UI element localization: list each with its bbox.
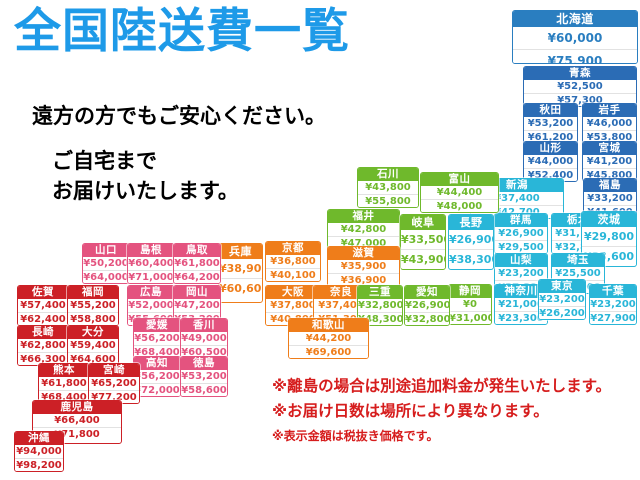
prefecture-card: 愛媛¥56,200¥68,400 [133, 318, 181, 359]
prefecture-card: 富山¥44,400¥48,000 [420, 172, 499, 213]
prefecture-price-standard: ¥50,200 [83, 257, 129, 270]
prefecture-name: 沖縄 [15, 432, 63, 445]
prefecture-price-large: ¥72,000 [134, 383, 180, 396]
prefecture-price-standard: ¥23,200 [590, 298, 636, 311]
prefecture-card: 北海道¥60,000¥75,900 [512, 10, 638, 64]
prefecture-price-standard: ¥37,800 [266, 299, 320, 312]
subtitle-secondary: ご自宅まで お届けいたします。 [52, 146, 239, 207]
prefecture-card: 宮城¥41,200¥45,800 [582, 141, 637, 182]
prefecture-price-standard: ¥23,200 [495, 267, 547, 280]
prefecture-name: 山形 [524, 142, 577, 155]
prefecture-price-large: ¥62,400 [18, 312, 68, 325]
prefecture-card: 島根¥60,400¥71,000 [127, 243, 175, 284]
prefecture-price-standard: ¥49,000 [181, 332, 227, 345]
prefecture-card: 山形¥44,000¥52,400 [523, 141, 578, 182]
prefecture-card: 徳島¥53,200¥58,600 [180, 356, 228, 397]
prefecture-price-large: ¥43,900 [401, 249, 445, 268]
prefecture-name: 千葉 [590, 285, 636, 298]
prefecture-card: 福井¥42,800¥47,000 [327, 209, 400, 250]
prefecture-price-standard: ¥53,200 [181, 370, 227, 383]
prefecture-name: 福岡 [68, 286, 118, 299]
prefecture-price-standard: ¥23,200 [539, 293, 585, 306]
prefecture-card: 秋田¥53,200¥61,200 [523, 103, 578, 144]
prefecture-name: 岩手 [583, 104, 636, 117]
prefecture-name: 長崎 [18, 326, 68, 339]
footnote-remote-island: ※離島の場合は別途追加料金が発生いたします。 [272, 374, 611, 399]
prefecture-price-standard: ¥33,500 [401, 230, 445, 249]
prefecture-card: 群馬¥26,900¥29,500 [494, 213, 548, 254]
prefecture-price-large: ¥32,800 [405, 312, 449, 325]
prefecture-price-standard: ¥47,200 [174, 299, 220, 312]
prefecture-card: 兵庫¥38,900¥60,600 [218, 243, 263, 303]
prefecture-name: 山梨 [495, 254, 547, 267]
prefecture-card: 千葉¥23,200¥27,900 [589, 284, 637, 325]
prefecture-price-standard: ¥35,900 [328, 260, 399, 273]
prefecture-name: 兵庫 [219, 244, 262, 259]
footnotes: ※離島の場合は別途追加料金が発生いたします。 ※お届け日数は場所により異なります… [272, 374, 611, 444]
prefecture-card: 京都¥36,800¥40,100 [265, 241, 321, 282]
prefecture-name: 熊本 [39, 364, 89, 377]
prefecture-card: 青森¥52,500¥57,300 [523, 66, 637, 107]
prefecture-name: 埼玉 [552, 254, 604, 267]
prefecture-name: 茨城 [582, 212, 636, 227]
prefecture-price-standard: ¥43,800 [358, 181, 418, 194]
prefecture-price-standard: ¥65,200 [89, 377, 139, 390]
prefecture-name: 徳島 [181, 357, 227, 370]
prefecture-card: 福岡¥55,200¥58,800 [67, 285, 119, 326]
prefecture-price-standard: ¥61,800 [174, 257, 220, 270]
prefecture-price-standard: ¥52,000 [128, 299, 174, 312]
prefecture-card: 大分¥59,400¥64,600 [67, 325, 119, 366]
prefecture-card: 岐阜¥33,500¥43,900 [400, 214, 446, 270]
prefecture-price-large: ¥98,200 [15, 458, 63, 471]
prefecture-name: 宮城 [583, 142, 636, 155]
prefecture-price-standard: ¥26,900 [449, 230, 493, 249]
prefecture-card: 高知¥56,200¥72,000 [133, 356, 181, 397]
prefecture-price-large: ¥26,200 [539, 306, 585, 319]
prefecture-price-standard: ¥52,500 [524, 80, 636, 93]
prefecture-price-standard: ¥41,200 [583, 155, 636, 168]
prefecture-name: 山口 [83, 244, 129, 257]
prefecture-card: 香川¥49,000¥60,500 [180, 318, 228, 359]
prefecture-price-large: ¥69,600 [289, 345, 368, 358]
prefecture-price-standard: ¥32,800 [358, 299, 402, 312]
shipping-fee-poster: 全国陸送費一覧 遠方の方でもご安心ください。 ご自宅まで お届けいたします。 北… [0, 0, 640, 480]
prefecture-price-standard: ¥33,200 [584, 192, 636, 205]
prefecture-card: 石川¥43,800¥55,800 [357, 167, 419, 208]
prefecture-name: 愛媛 [134, 319, 180, 332]
prefecture-price-standard: ¥56,200 [134, 370, 180, 383]
prefecture-name: 岐阜 [401, 215, 445, 230]
prefecture-price-standard: ¥38,900 [219, 259, 262, 278]
prefecture-price-standard: ¥29,800 [582, 227, 636, 246]
prefecture-price-standard: ¥62,800 [18, 339, 68, 352]
prefecture-price-large: ¥64,000 [83, 270, 129, 283]
prefecture-name: 長野 [449, 215, 493, 230]
prefecture-price-large: ¥60,600 [219, 278, 262, 297]
prefecture-price-standard: ¥26,900 [405, 299, 449, 312]
prefecture-name: 宮崎 [89, 364, 139, 377]
prefecture-price-standard: ¥60,000 [513, 27, 637, 49]
prefecture-price-large: ¥40,100 [266, 268, 320, 281]
prefecture-price-large: ¥64,200 [174, 270, 220, 283]
prefecture-price-standard: ¥66,400 [33, 414, 121, 427]
prefecture-price-standard: ¥44,000 [524, 155, 577, 168]
prefecture-price-standard: ¥57,400 [18, 299, 68, 312]
prefecture-card: 長崎¥62,800¥66,300 [17, 325, 69, 366]
prefecture-price-large: ¥31,000 [449, 311, 491, 324]
prefecture-name: 愛知 [405, 286, 449, 299]
prefecture-card: 愛知¥26,900¥32,800 [404, 285, 450, 326]
prefecture-price-standard: ¥56,200 [134, 332, 180, 345]
prefecture-name: 鹿児島 [33, 401, 121, 414]
prefecture-name: 福島 [584, 179, 636, 192]
prefecture-price-large: ¥29,500 [495, 240, 547, 253]
subtitle-primary: 遠方の方でもご安心ください。 [32, 100, 326, 130]
prefecture-name: 京都 [266, 242, 320, 255]
prefecture-price-standard: ¥59,400 [68, 339, 118, 352]
prefecture-price-large: ¥75,900 [513, 49, 637, 64]
prefecture-card: 東京¥23,200¥26,200 [538, 279, 586, 320]
prefecture-price-standard: ¥44,200 [289, 332, 368, 345]
prefecture-name: 青森 [524, 67, 636, 80]
prefecture-name: 高知 [134, 357, 180, 370]
prefecture-name: 富山 [421, 173, 498, 186]
prefecture-price-large: ¥58,600 [181, 383, 227, 396]
prefecture-name: 滋賀 [328, 247, 399, 260]
prefecture-price-standard: ¥61,800 [39, 377, 89, 390]
prefecture-name: 福井 [328, 210, 399, 223]
prefecture-name: 大阪 [266, 286, 320, 299]
prefecture-card: 佐賀¥57,400¥62,400 [17, 285, 69, 326]
prefecture-card: 鳥取¥61,800¥64,200 [173, 243, 221, 284]
prefecture-name: 鳥取 [174, 244, 220, 257]
prefecture-name: 秋田 [524, 104, 577, 117]
prefecture-price-large: ¥55,800 [358, 194, 418, 207]
prefecture-price-large: ¥27,900 [590, 311, 636, 324]
prefecture-price-standard: ¥36,800 [266, 255, 320, 268]
prefecture-price-standard: ¥94,000 [15, 445, 63, 458]
prefecture-price-standard: ¥42,800 [328, 223, 399, 236]
prefecture-name: 佐賀 [18, 286, 68, 299]
prefecture-price-standard: ¥55,200 [68, 299, 118, 312]
prefecture-name: 北海道 [513, 11, 637, 27]
prefecture-name: 石川 [358, 168, 418, 181]
prefecture-name: 東京 [539, 280, 585, 293]
prefecture-name: 広島 [128, 286, 174, 299]
prefecture-name: 島根 [128, 244, 174, 257]
prefecture-name: 大分 [68, 326, 118, 339]
prefecture-price-large: ¥48,000 [421, 199, 498, 212]
prefecture-name: 和歌山 [289, 319, 368, 332]
subtitle-secondary-line1: ご自宅まで [52, 146, 239, 176]
prefecture-name: 群馬 [495, 214, 547, 227]
prefecture-price-standard: ¥26,900 [495, 227, 547, 240]
prefecture-name: 岡山 [174, 286, 220, 299]
prefecture-card: 山口¥50,200¥64,000 [82, 243, 130, 284]
footnote-delivery-days: ※お届け日数は場所により異なります。 [272, 399, 611, 424]
prefecture-card: 静岡¥0¥31,000 [448, 284, 492, 325]
prefecture-card: 滋賀¥35,900¥36,900 [327, 246, 400, 287]
prefecture-price-standard: ¥0 [449, 298, 491, 311]
prefecture-card: 長野¥26,900¥38,300 [448, 214, 494, 270]
subtitle-secondary-line2: お届けいたします。 [52, 176, 239, 206]
prefecture-name: 香川 [181, 319, 227, 332]
prefecture-card: 宮崎¥65,200¥77,200 [88, 363, 140, 404]
prefecture-price-large: ¥58,800 [68, 312, 118, 325]
prefecture-price-standard: ¥44,400 [421, 186, 498, 199]
prefecture-price-standard: ¥53,200 [524, 117, 577, 130]
prefecture-price-large: ¥38,300 [449, 249, 493, 268]
prefecture-name: 三重 [358, 286, 402, 299]
page-title: 全国陸送費一覧 [14, 8, 350, 55]
prefecture-price-large: ¥71,000 [128, 270, 174, 283]
prefecture-price-standard: ¥60,400 [128, 257, 174, 270]
footnote-tax-excluded: ※表示金額は税抜き価格です。 [272, 427, 611, 444]
prefecture-name: 静岡 [449, 285, 491, 298]
prefecture-card: 熊本¥61,800¥68,400 [38, 363, 90, 404]
prefecture-card: 和歌山¥44,200¥69,600 [288, 318, 369, 359]
prefecture-card: 岩手¥46,000¥53,800 [582, 103, 637, 144]
prefecture-card: 沖縄¥94,000¥98,200 [14, 431, 64, 472]
prefecture-price-standard: ¥46,000 [583, 117, 636, 130]
